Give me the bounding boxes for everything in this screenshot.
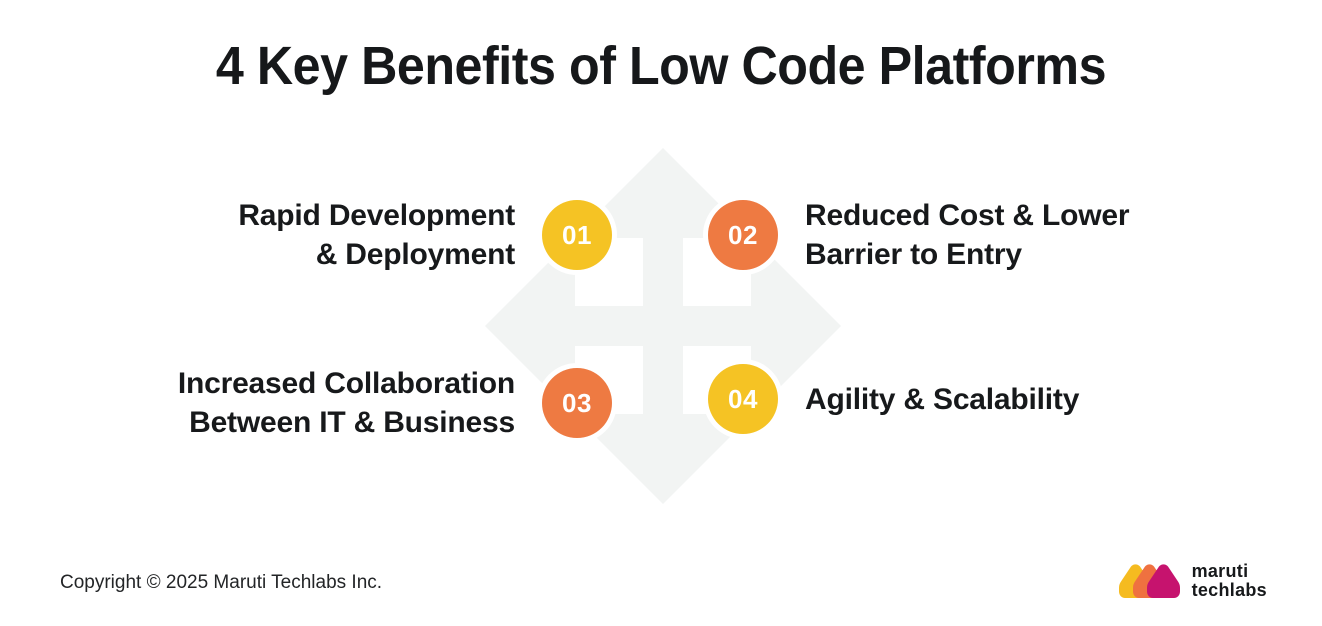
benefit-label-02: Reduced Cost & Lower Barrier to Entry — [805, 196, 1129, 274]
benefit-label-03: Increased Collaboration Between IT & Bus… — [178, 364, 515, 442]
infographic-canvas: 4 Key Benefits of Low Code Platforms Rap… — [0, 0, 1322, 626]
benefit-label-01: Rapid Development & Deployment — [238, 196, 515, 274]
benefit-item-04: 04 Agility & Scalability — [708, 364, 1268, 434]
benefits-grid: Rapid Development & Deployment 01 02 Red… — [0, 0, 1322, 626]
maruti-techlabs-logo: maruti techlabs — [1118, 562, 1267, 600]
benefit-badge-04: 04 — [708, 364, 778, 434]
benefit-badge-02: 02 — [708, 200, 778, 270]
benefit-label-04: Agility & Scalability — [805, 380, 1079, 419]
benefit-item-03: Increased Collaboration Between IT & Bus… — [60, 364, 612, 442]
copyright-text: Copyright © 2025 Maruti Techlabs Inc. — [60, 572, 382, 594]
logo-wordmark: maruti techlabs — [1192, 562, 1267, 600]
maruti-arches-logo-icon — [1118, 563, 1180, 599]
logo-line-2: techlabs — [1192, 581, 1267, 600]
benefit-item-01: Rapid Development & Deployment 01 — [60, 196, 612, 274]
benefit-badge-01: 01 — [542, 200, 612, 270]
benefit-badge-03: 03 — [542, 368, 612, 438]
logo-line-1: maruti — [1192, 562, 1267, 581]
benefit-item-02: 02 Reduced Cost & Lower Barrier to Entry — [708, 196, 1268, 274]
